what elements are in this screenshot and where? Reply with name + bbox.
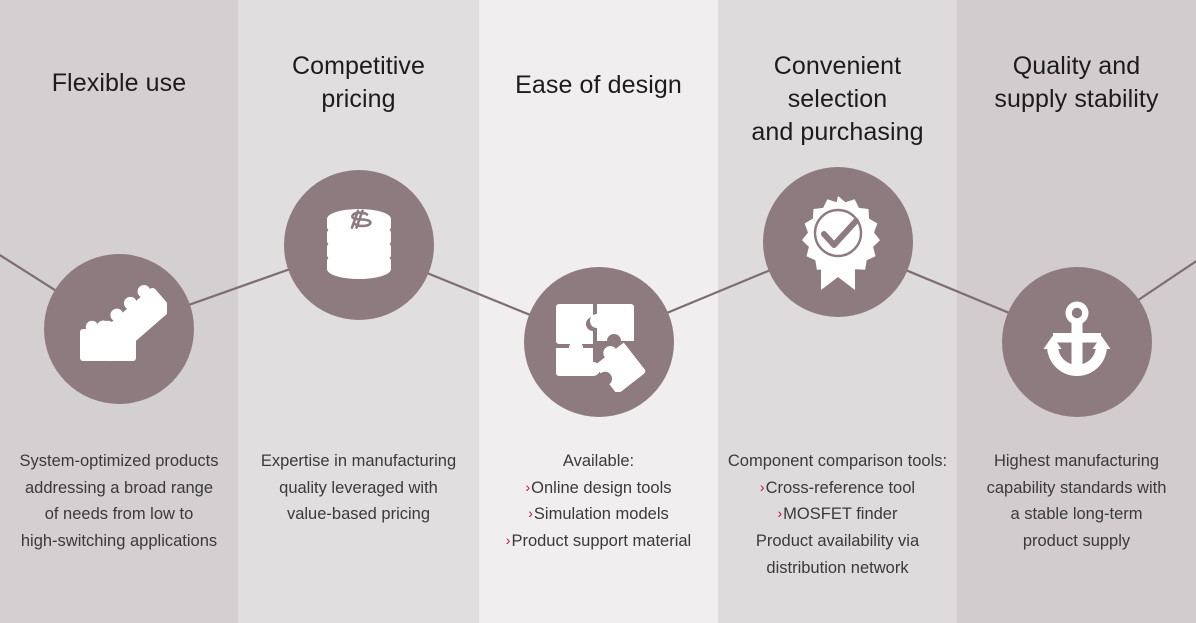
column-title-5: Quality and supply stability	[967, 50, 1187, 116]
columns-container: Flexible use	[0, 0, 1196, 623]
icon-wrap-1	[44, 254, 194, 404]
column-title-4: Convenient selection and purchasing	[728, 50, 948, 149]
chevron-icon: ›	[760, 476, 765, 499]
column-ease-of-design: Ease of design	[479, 0, 718, 623]
building-blocks-icon	[44, 254, 194, 404]
body-line: Highest manufacturing	[963, 448, 1190, 475]
body-line: quality leveraged with	[244, 475, 473, 502]
award-badge-check-icon	[763, 167, 913, 317]
body-line: ›Simulation models	[485, 501, 712, 528]
chevron-icon: ›	[778, 502, 783, 525]
body-line: ›Product support material	[485, 528, 712, 555]
body-line: ›Online design tools	[485, 475, 712, 502]
chevron-icon: ›	[528, 502, 533, 525]
body-line: ›MOSFET finder	[724, 501, 951, 528]
body-line: Component comparison tools:	[724, 448, 951, 475]
column-quality-supply: Quality and supply stability	[957, 0, 1196, 623]
body-line: of needs from low to	[6, 501, 232, 528]
body-line: Product availability via	[724, 528, 951, 555]
body-line: product supply	[963, 528, 1190, 555]
icon-wrap-3	[524, 267, 674, 417]
chevron-icon: ›	[506, 529, 511, 552]
column-body-4: Component comparison tools: ›Cross-refer…	[718, 448, 957, 582]
benefits-infographic: Flexible use	[0, 0, 1196, 623]
column-convenient-selection: Convenient selection and purchasing	[718, 0, 957, 623]
column-body-1: System-optimized products addressing a b…	[0, 448, 238, 555]
icon-wrap-4	[763, 167, 913, 317]
body-line: System-optimized products	[6, 448, 232, 475]
body-line: a stable long-term	[963, 501, 1190, 528]
coin-stack-icon	[284, 170, 434, 320]
column-body-3: Available: ›Online design tools ›Simulat…	[479, 448, 718, 555]
puzzle-pieces-icon	[524, 267, 674, 417]
body-line: Expertise in manufacturing	[244, 448, 473, 475]
icon-wrap-2	[284, 170, 434, 320]
body-line: high-switching applications	[6, 528, 232, 555]
column-body-2: Expertise in manufacturing quality lever…	[238, 448, 479, 528]
column-flexible-use: Flexible use	[0, 0, 238, 623]
chevron-icon: ›	[525, 476, 530, 499]
column-body-5: Highest manufacturing capability standar…	[957, 448, 1196, 555]
body-line: addressing a broad range	[6, 475, 232, 502]
icon-wrap-5	[1002, 267, 1152, 417]
body-line: distribution network	[724, 555, 951, 582]
body-line: value-based pricing	[244, 501, 473, 528]
column-title-1: Flexible use	[10, 67, 229, 100]
anchor-icon	[1002, 267, 1152, 417]
body-line: Available:	[485, 448, 712, 475]
body-line: ›Cross-reference tool	[724, 475, 951, 502]
column-competitive-pricing: Competitive pricing	[238, 0, 479, 623]
body-line: capability standards with	[963, 475, 1190, 502]
column-title-2: Competitive pricing	[248, 50, 470, 116]
column-title-3: Ease of design	[489, 69, 709, 102]
